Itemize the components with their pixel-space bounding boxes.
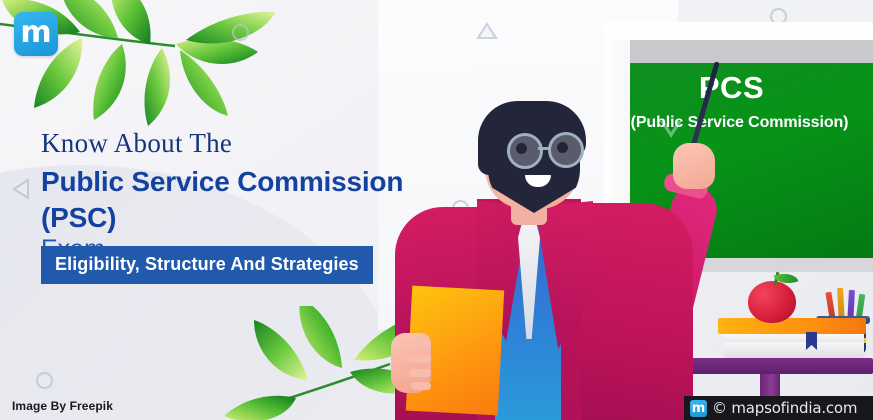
finger-2 (407, 355, 431, 363)
raised-hand (673, 143, 715, 189)
teacher-illustration (385, 95, 745, 420)
finger-3 (409, 369, 431, 377)
eye-right (557, 142, 568, 153)
watermark-text: © mapsofindia.com (712, 399, 857, 417)
watermark-logo-icon: m (690, 400, 707, 417)
decorative-circle-bottom-left (36, 372, 53, 389)
watermark-logo-letter: m (692, 402, 706, 415)
hair-sideburn (478, 131, 498, 175)
apple (748, 281, 796, 323)
chalkboard-top-bevel (604, 40, 873, 63)
eye-left (516, 143, 527, 154)
finger-4 (411, 382, 431, 390)
logo-letter: m (20, 18, 51, 48)
watermark: m © mapsofindia.com (684, 396, 873, 420)
decorative-circle-top-left (232, 24, 249, 41)
decorative-triangle-top (476, 22, 498, 39)
decorative-triangle-left (12, 178, 29, 200)
image-credit: Image By Freepik (12, 399, 113, 413)
ribbon-label: Eligibility, Structure And Strategies (55, 254, 359, 274)
headline-ribbon: Eligibility, Structure And Strategies (41, 246, 373, 284)
finger-1 (405, 341, 431, 349)
glasses-bridge (538, 147, 549, 150)
mapsofindia-logo[interactable]: m (14, 12, 58, 56)
psc-exam-banner: m Know About The Public Service Commissi… (0, 0, 873, 420)
